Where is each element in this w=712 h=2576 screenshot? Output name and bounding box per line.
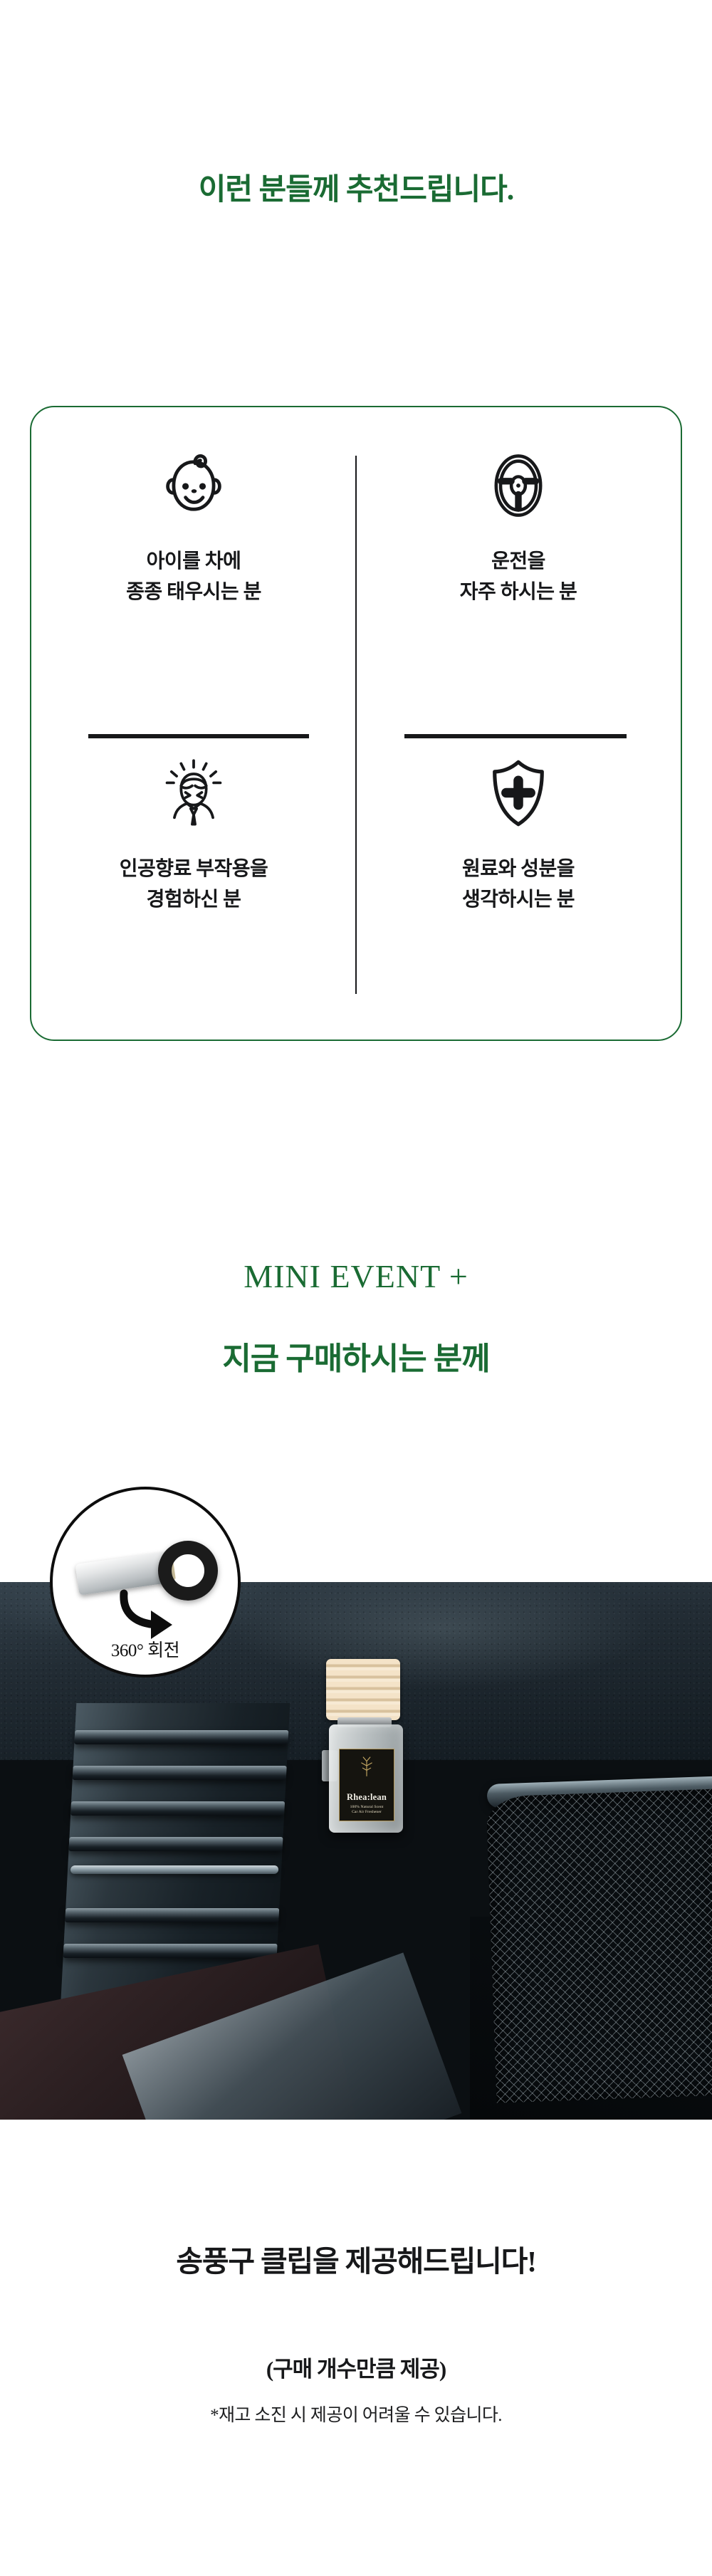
caption-line-1: 원료와 성분을 [462,854,575,885]
recommendation-item-ingredients: 원료와 성분을 생각하시는 분 [356,723,681,1040]
gift-title: 송풍구 클립을 제공해드립니다! [0,2237,712,2280]
mini-event-title-en: MINI EVENT + [0,1257,712,1295]
speaker-grille-mesh [486,1789,712,2103]
card-vertical-divider [355,456,357,994]
bottle-label: Rhea:lean 100% Natural Scent Car Air Fre… [339,1749,394,1821]
caption-line-2: 생각하시는 분 [462,885,575,916]
brand-name: Rhea:lean [347,1793,387,1802]
botanical-sprig-icon [355,1754,379,1777]
caption-line-1: 아이를 차에 [126,547,261,577]
caption-line-2: 경험하신 분 [120,885,268,916]
caption-line-1: 운전을 [460,547,577,577]
recommendation-item-caption: 인공향료 부작용을 경험하신 분 [120,854,268,915]
caption-line-2: 종종 태우시는 분 [126,577,261,608]
recommendation-item-caption: 운전을 자주 하시는 분 [460,547,577,607]
bottle-wooden-cap [326,1659,400,1720]
gift-quantity-note: (구매 개수만큼 제공) [0,2351,712,2383]
recommendation-item-side-effect: 인공향료 부작용을 경험하신 분 [31,723,356,1040]
recommendation-item-driving: 운전을 자주 하시는 분 [356,407,681,723]
diffuser-bottle: Rhea:lean 100% Natural Scent Car Air Fre… [322,1659,412,1837]
card-horizontal-divider-left [88,734,309,738]
tagline-line-2: Car Air Freshener [350,1810,384,1816]
baby-face-icon [157,449,231,523]
rotation-badge: 360° 회전 [50,1487,241,1677]
product-detail-page: 이런 분들께 추천드립니다. [0,0,712,2576]
gift-stock-disclaimer: *재고 소진 시 제공이 어려울 수 있습니다. [0,2401,712,2426]
mini-event-title-ko: 지금 구매하시는 분께 [0,1333,712,1378]
recommendation-card: 아이를 차에 종종 태우시는 분 [30,406,682,1041]
rotation-arrow-icon [118,1589,197,1639]
rotation-badge-label: 360° 회전 [53,1636,238,1662]
caption-line-2: 자주 하시는 분 [460,577,577,608]
caption-line-1: 인공향료 부작용을 [120,854,268,885]
recommendation-heading: 이런 분들께 추천드립니다. [0,165,712,209]
card-horizontal-divider-right [404,734,627,738]
headache-person-icon [157,756,231,830]
recommendation-item-caption: 원료와 성분을 생각하시는 분 [462,854,575,915]
recommendation-item-baby: 아이를 차에 종종 태우시는 분 [31,407,356,723]
steering-wheel-icon [481,449,555,523]
recommendation-item-caption: 아이를 차에 종종 태우시는 분 [126,547,261,607]
tagline-line-1: 100% Natural Scent [350,1805,384,1811]
product-tagline: 100% Natural Scent Car Air Freshener [350,1805,384,1816]
shield-plus-icon [481,756,555,830]
